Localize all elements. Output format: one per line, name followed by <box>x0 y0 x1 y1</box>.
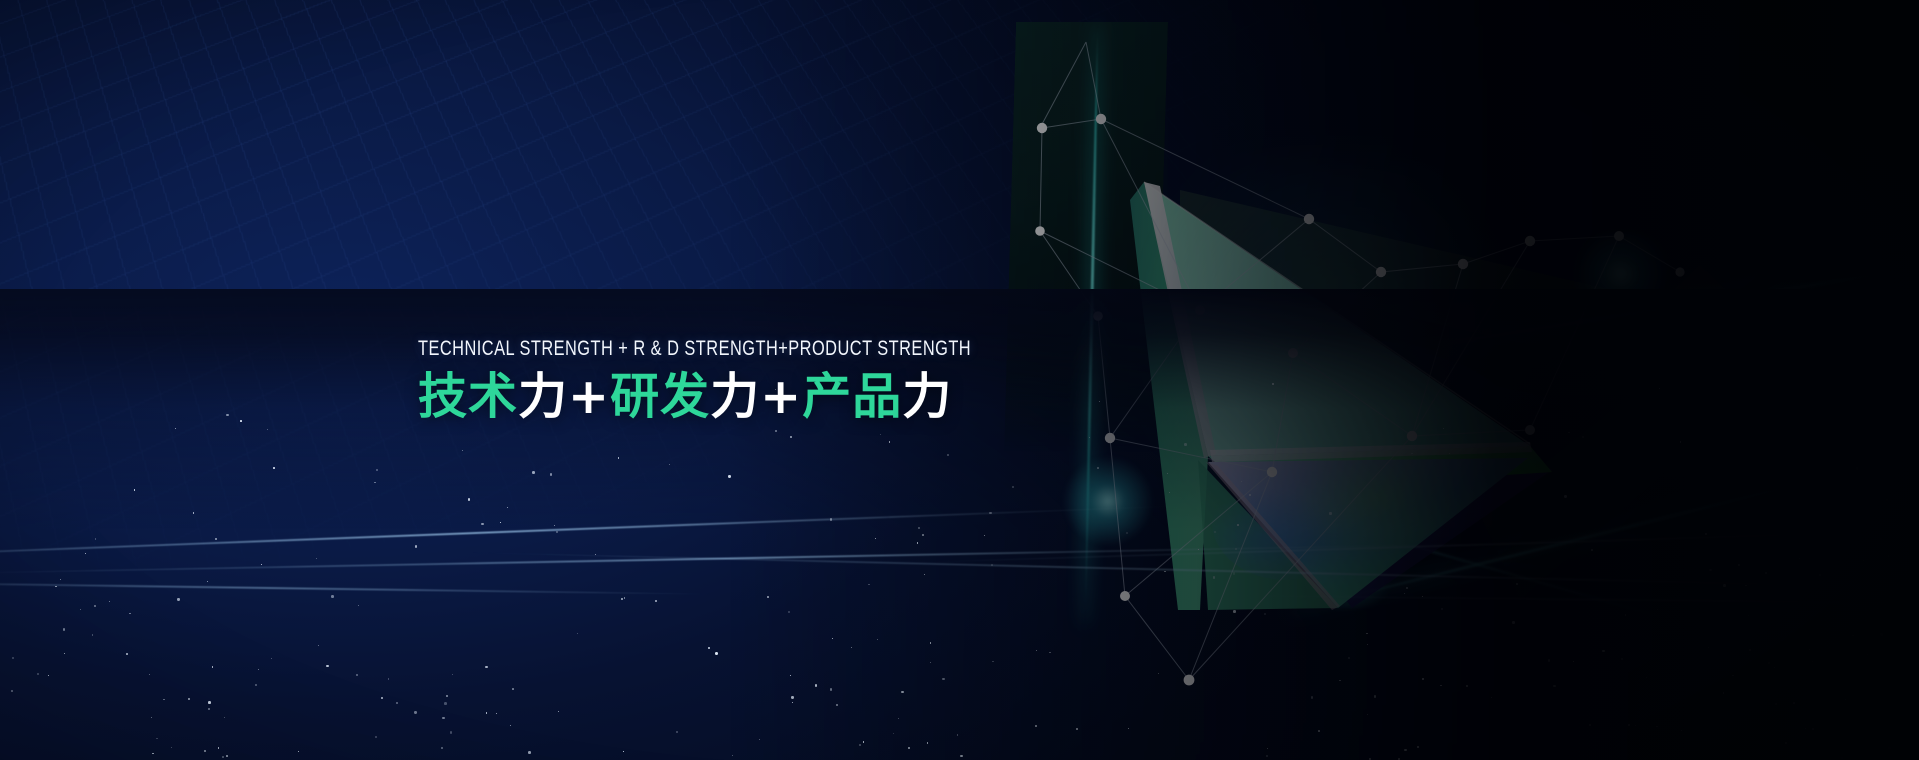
headline-chinese: 技术力+研发力+产品力 <box>418 371 1038 423</box>
headline-english: TECHNICAL STRENGTH + R & D STRENGTH+PROD… <box>418 338 902 359</box>
headline-cn-segment-0: 技术 <box>418 368 518 425</box>
headline-cn-segment-6: 产品 <box>802 368 902 425</box>
headline-cn-segment-3: 研发 <box>610 368 710 425</box>
headline-cn-segment-4: 力 <box>710 368 760 425</box>
headline-cn-segment-1: 力 <box>518 368 568 425</box>
headline-cn-segment-2: + <box>568 368 610 425</box>
hero-banner: TECHNICAL STRENGTH + R & D STRENGTH+PROD… <box>0 0 1919 760</box>
headline-block: TECHNICAL STRENGTH + R & D STRENGTH+PROD… <box>418 338 1038 423</box>
headline-cn-segment-5: + <box>760 368 802 425</box>
headline-cn-segment-7: 力 <box>902 368 952 425</box>
